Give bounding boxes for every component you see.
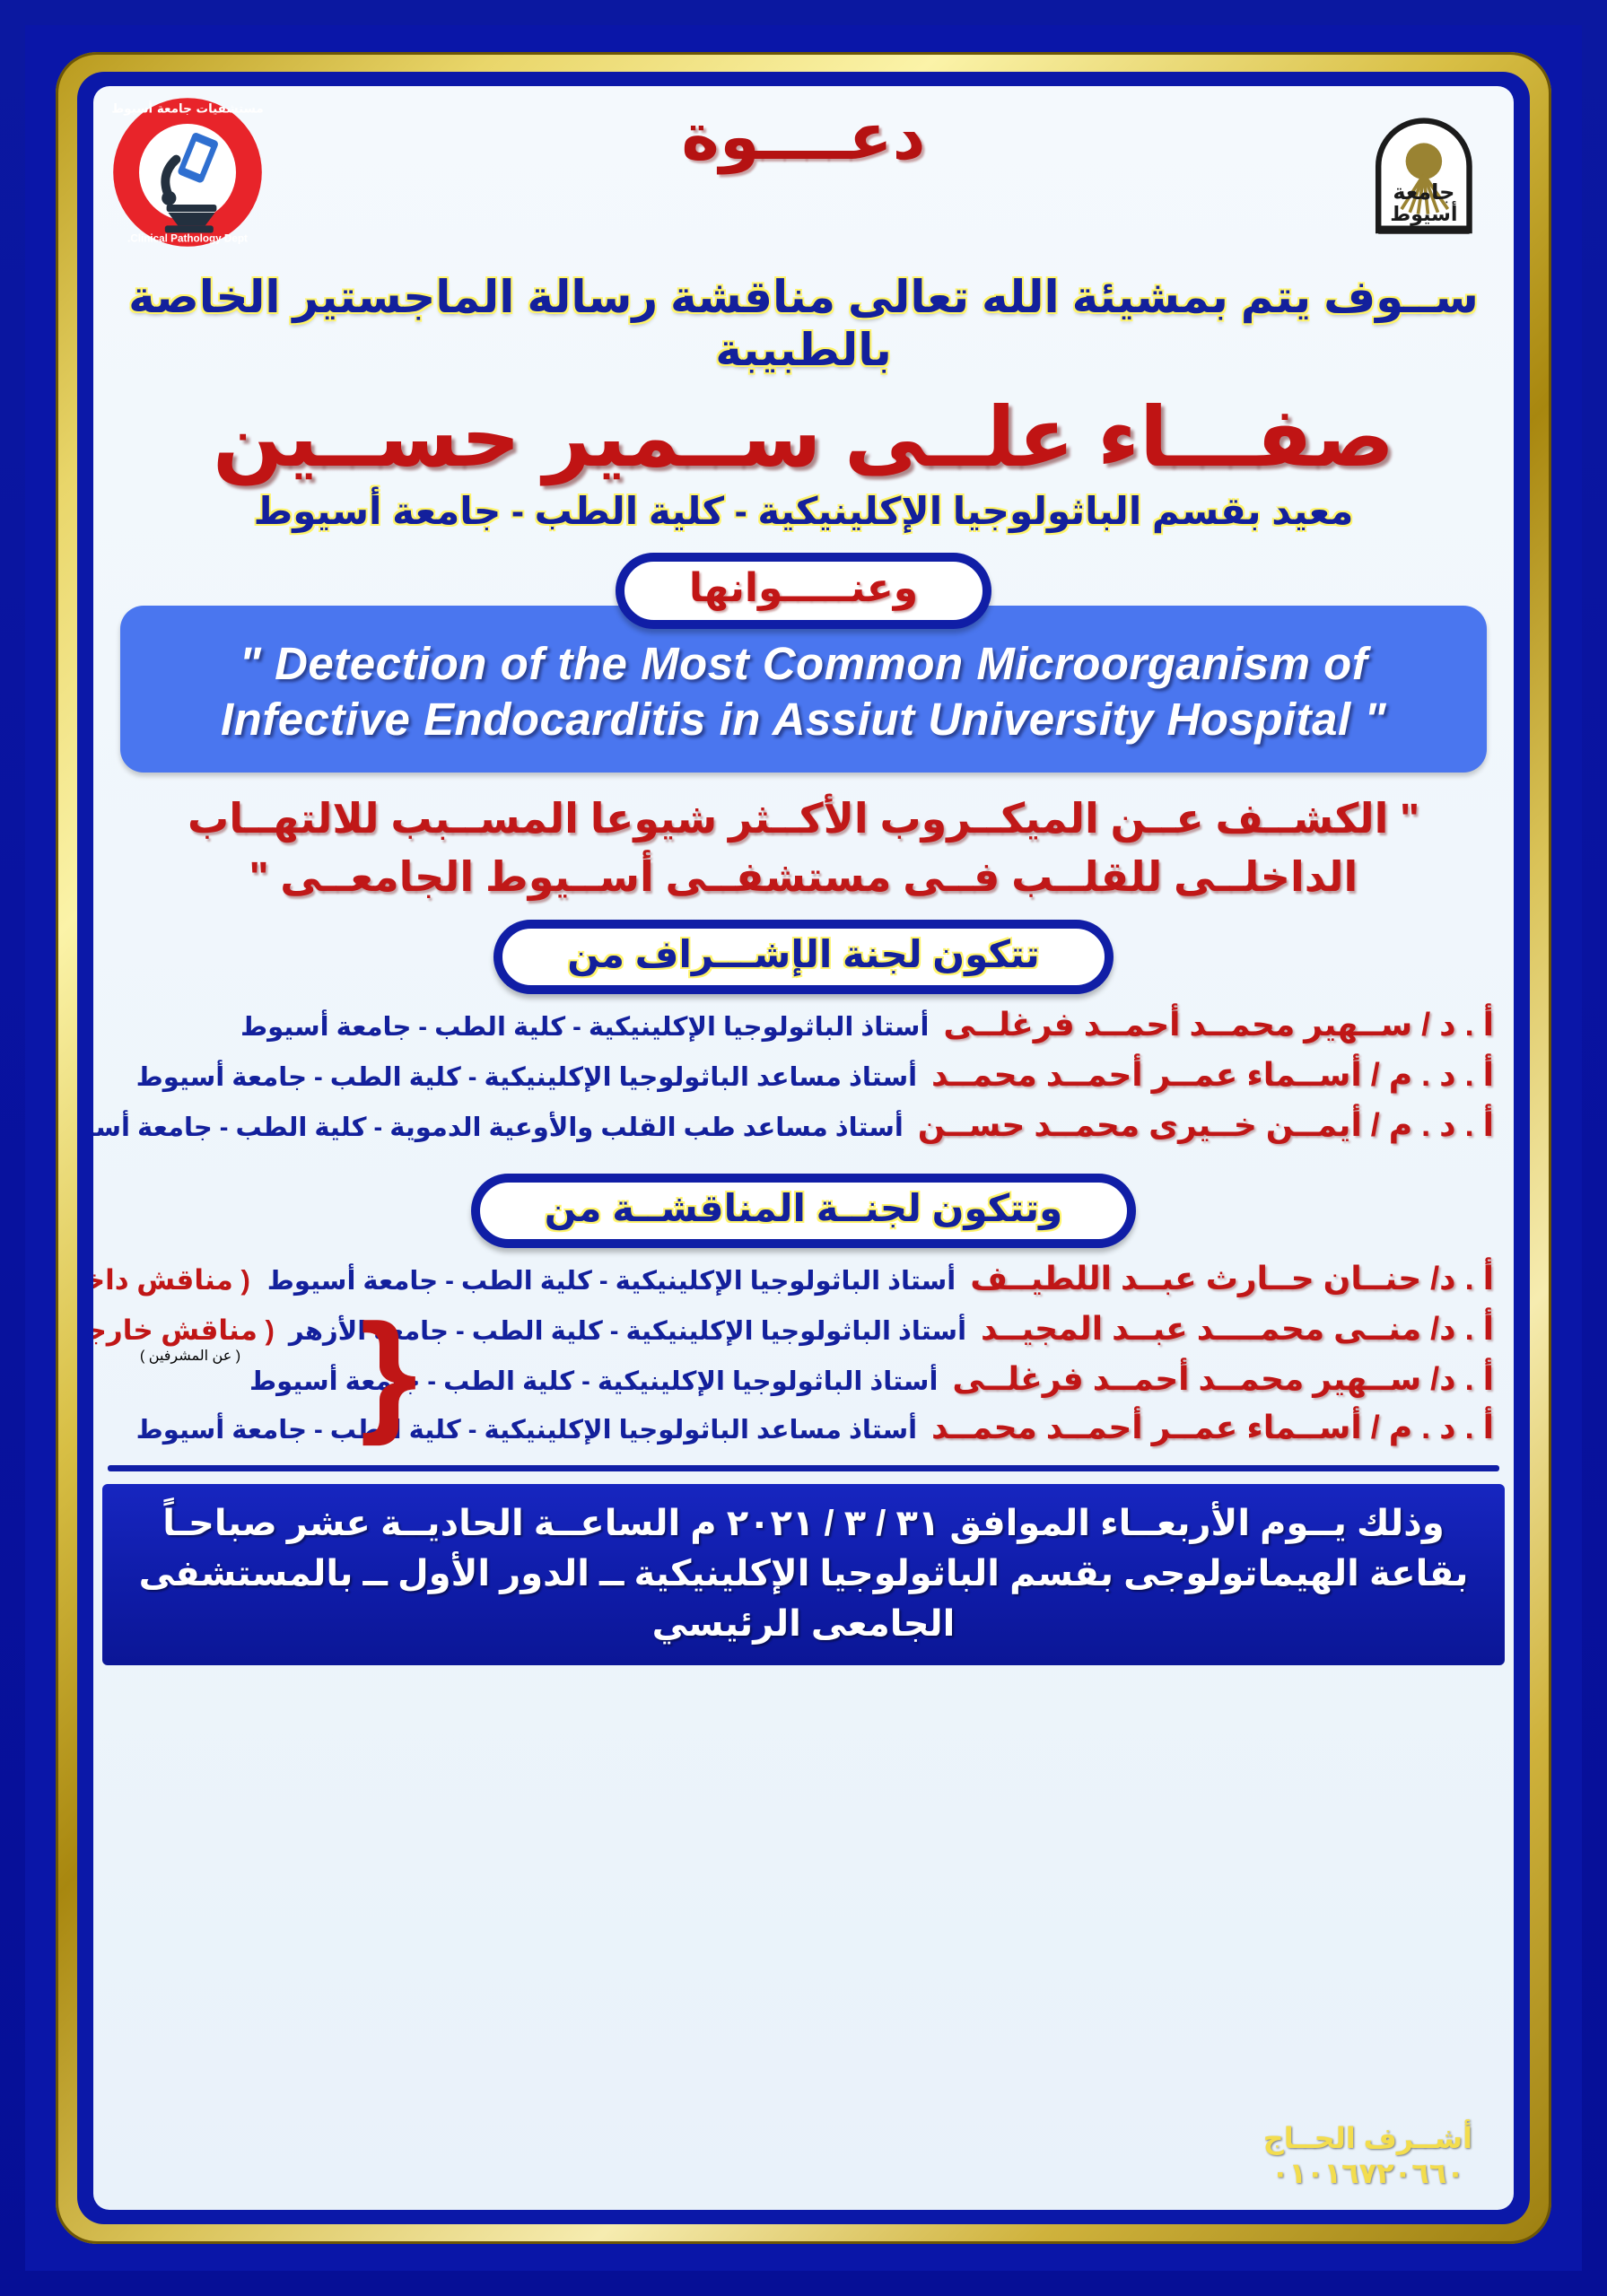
- supervision-badge-text: تتكون لجنة الإشـــراف من: [567, 933, 1040, 975]
- contact-name: أشــرف الحــاج: [1263, 2121, 1472, 2155]
- svg-text:أسيوط: أسيوط: [1390, 200, 1457, 226]
- contact-block: أشــرف الحــاج ٠١٠١٦٧٢٠٦٦٠: [1263, 2121, 1472, 2190]
- member-name: أ . د/ منــى محمــــد عبــد المجيــد: [981, 1310, 1494, 1348]
- member-title: أستاذ مساعد طب القلب والأوعية الدموية - …: [93, 1112, 904, 1143]
- thesis-label-text: وعنـــــوانها: [689, 566, 918, 610]
- thesis-title-ar-line2: الداخلــى للقلــب فــى مستشفــى أســيوط …: [108, 847, 1499, 907]
- member-title: أستاذ الباثولوجيا الإكلينيكية - كلية الط…: [249, 1366, 938, 1397]
- supervision-badge-wrap: تتكون لجنة الإشـــراف من: [93, 920, 1514, 994]
- poster-content: مستشفيات جامعة أسيوط Clinical Pathology …: [93, 86, 1514, 2210]
- discussion-badge-text: وتتكون لجنــة المناقشــة من: [545, 1187, 1062, 1229]
- contact-phone: ٠١٠١٦٧٢٠٦٦٠: [1263, 2156, 1472, 2190]
- discussion-committee-list: أ . د/ حنــان حــارث عبــد اللطيــف أستا…: [93, 1253, 1514, 1453]
- svg-text:Clinical Pathology Dept.: Clinical Pathology Dept.: [127, 232, 248, 244]
- member-title: أستاذ مساعد الباثولوجيا الإكلينيكية - كل…: [136, 1414, 917, 1445]
- footer-divider: [108, 1465, 1499, 1471]
- assiut-university-emblem: جامعة أسيوط: [1378, 121, 1469, 234]
- event-venue: بقاعة الهيماتولوجى بقسم الباثولوجيا الإك…: [120, 1549, 1487, 1649]
- svg-text:جامعة: جامعة: [1393, 179, 1454, 205]
- supervision-badge: تتكون لجنة الإشـــراف من: [493, 920, 1114, 994]
- poster-header: مستشفيات جامعة أسيوط Clinical Pathology …: [93, 86, 1514, 266]
- list-item: أ . د/ منــى محمــــد عبــد المجيــد أست…: [93, 1304, 1514, 1354]
- list-item: أ . د / ســهير محمــد أحمــد فرغلــى أست…: [93, 1000, 1514, 1050]
- thesis-title-en-line1: " Detection of the Most Common Microorga…: [144, 636, 1463, 692]
- list-item: أ . د . م / أســماء عمــر أحمــد محمــد …: [93, 1050, 1514, 1100]
- supervision-committee-list: أ . د / ســهير محمــد أحمــد فرغلــى أست…: [93, 1000, 1514, 1150]
- poster-root: مستشفيات جامعة أسيوط Clinical Pathology …: [0, 0, 1607, 2296]
- member-title: أستاذ الباثولوجيا الإكلينيكية - كلية الط…: [106, 1011, 929, 1043]
- member-name: أ . د / ســهير محمــد أحمــد فرغلــى: [943, 1006, 1494, 1043]
- member-title: أستاذ مساعد الباثولوجيا الإكلينيكية - كل…: [106, 1061, 917, 1093]
- supervisors-group-role: ( عن المشرفين ): [140, 1347, 240, 1365]
- member-role: ( مناقش داخلى ): [93, 1264, 253, 1296]
- thesis-title-en-line2: Infective Endocarditis in Assiut Univers…: [144, 692, 1463, 747]
- red-crescent-icon: [1300, 111, 1362, 235]
- member-name: أ . د/ حنــان حــارث عبــد اللطيــف: [970, 1260, 1494, 1297]
- member-name: أ . د/ ســهير محمــد أحمــد فرغلــى: [952, 1360, 1494, 1398]
- list-item: أ . د/ حنــان حــارث عبــد اللطيــف أستا…: [93, 1253, 1514, 1304]
- list-item: أ . د/ ســهير محمــد أحمــد فرغلــى أستا…: [93, 1354, 1514, 1400]
- student-affiliation: معيد بقسم الباثولوجيا الإكلينيكية - كلية…: [115, 489, 1492, 533]
- list-item: أ . د . م / أســماء عمــر أحمــد محمــد …: [93, 1400, 1514, 1453]
- thesis-label-badge-wrap: وعنـــــوانها: [93, 553, 1514, 629]
- member-name: أ . د . م / أيمــن خــيرى محمــد حســن: [918, 1106, 1494, 1144]
- supervisors-group-brace: {: [360, 1304, 417, 1438]
- thesis-title-ar-line1: " الكشــف عــن الميكــروب الأكــثر شيوعا…: [108, 789, 1499, 849]
- header-right-logos: جامعة أسيوط: [1236, 95, 1505, 252]
- discussion-badge-wrap: وتتكون لجنــة المناقشــة من: [93, 1174, 1514, 1248]
- event-datetime: وذلك يــوم الأربعــاء الموافق ٣١ / ٣ / ٢…: [120, 1498, 1487, 1549]
- discussion-badge: وتتكون لجنــة المناقشــة من: [471, 1174, 1136, 1248]
- invitation-intro-line: ســوف يتم بمشيئة الله تعالى مناقشة رسالة…: [118, 271, 1489, 377]
- list-item: أ . د . م / أيمــن خــيرى محمــد حســن أ…: [93, 1100, 1514, 1150]
- event-details-bar: وذلك يــوم الأربعــاء الموافق ٣١ / ٣ / ٢…: [102, 1484, 1505, 1665]
- member-name: أ . د . م / أســماء عمــر أحمــد محمــد: [931, 1056, 1494, 1094]
- member-name: أ . د . م / أســماء عمــر أحمــد محمــد: [931, 1409, 1494, 1446]
- member-role: ( مناقش خارجى ): [93, 1314, 275, 1347]
- thesis-title-english-box: " Detection of the Most Common Microorga…: [120, 606, 1487, 773]
- student-name: صفـــاء علــى ســمير حســين: [93, 389, 1514, 485]
- thesis-label-badge: وعنـــــوانها: [616, 553, 991, 629]
- member-title: أستاذ الباثولوجيا الإكلينيكية - كلية الط…: [267, 1265, 956, 1296]
